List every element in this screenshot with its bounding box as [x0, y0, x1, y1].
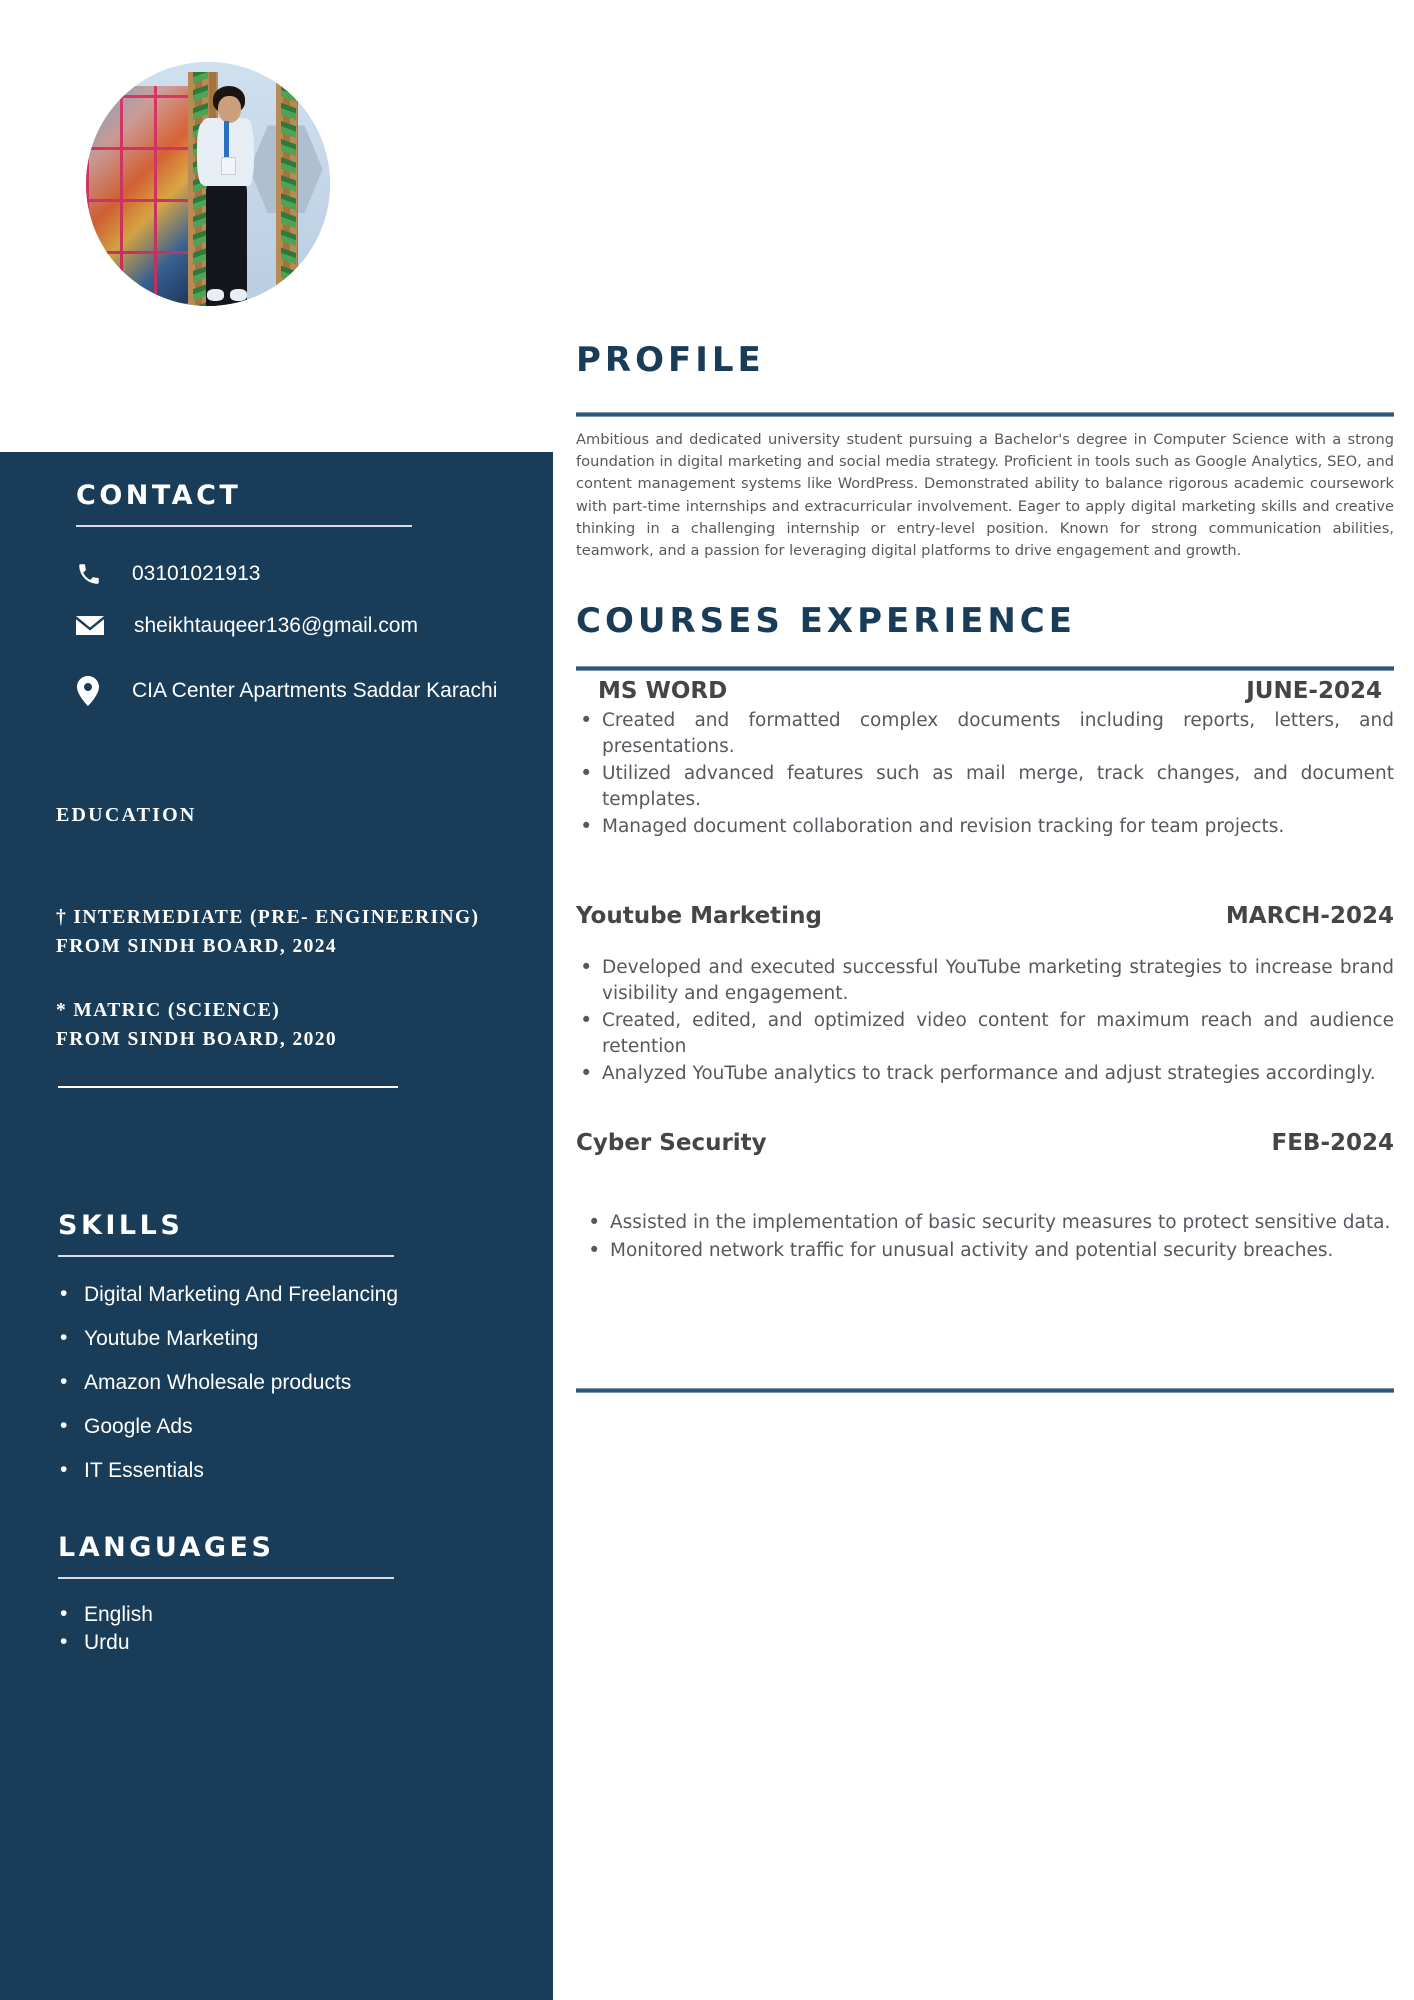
address: CIA Center Apartments Saddar Karachi [116, 679, 497, 703]
list-item: Developed and executed successful YouTub… [576, 955, 1394, 1006]
course-bullets: Created and formatted complex documents … [576, 708, 1394, 840]
skills-divider [58, 1255, 394, 1257]
list-item: Google Ads [58, 1415, 498, 1439]
course-title: Cyber Security [576, 1130, 767, 1156]
course-bullets: Developed and executed successful YouTub… [576, 955, 1394, 1087]
skills-list: Digital Marketing And Freelancing Youtub… [58, 1283, 498, 1483]
contact-divider [76, 525, 412, 527]
languages-section: LANGUAGES English Urdu [58, 1532, 498, 1655]
list-item: Digital Marketing And Freelancing [58, 1283, 498, 1307]
sidebar-divider [58, 1086, 398, 1088]
education-heading: EDUCATION [56, 804, 526, 827]
list-item: Youtube Marketing [58, 1327, 498, 1351]
course-date: MARCH-2024 [1226, 903, 1394, 929]
education-entry-degree: * MATRIC (SCIENCE) [56, 996, 526, 1025]
course-date: FEB-2024 [1271, 1130, 1394, 1156]
skills-section: SKILLS Digital Marketing And Freelancing… [58, 1210, 498, 1483]
course-entry: MS WORD JUNE-2024 Created and formatted … [576, 678, 1394, 840]
course-title: Youtube Marketing [576, 903, 822, 929]
main-content: PROFILE Ambitious and dedicated universi… [553, 0, 1414, 2000]
skills-heading: SKILLS [58, 1210, 498, 1241]
course-header: MS WORD JUNE-2024 [576, 678, 1394, 704]
list-item: IT Essentials [58, 1459, 498, 1483]
contact-row-email[interactable]: sheikhtauqeer136@gmail.com [76, 614, 496, 638]
sidebar: CONTACT 03101021913 sheikhtauqeer136@gma… [0, 452, 553, 2000]
contact-section: CONTACT 03101021913 sheikhtauqeer136@gma… [76, 480, 496, 706]
course-header: Cyber Security FEB-2024 [576, 1130, 1394, 1156]
education-entry-institution: FROM SINDH BOARD, 2020 [56, 1025, 526, 1054]
profile-heading: PROFILE [576, 340, 765, 380]
languages-divider [58, 1577, 394, 1579]
education-entry-institution: FROM SINDH BOARD, 2024 [56, 932, 526, 961]
courses-heading: COURSES EXPERIENCE [576, 601, 1076, 641]
course-date: JUNE-2024 [1246, 678, 1382, 704]
footer-divider [576, 1388, 1394, 1393]
list-item: Analyzed YouTube analytics to track perf… [576, 1061, 1394, 1087]
list-item: Amazon Wholesale products [58, 1371, 498, 1395]
course-header: Youtube Marketing MARCH-2024 [576, 903, 1394, 929]
list-item: Utilized advanced features such as mail … [576, 761, 1394, 812]
education-entry: * MATRIC (SCIENCE) FROM SINDH BOARD, 202… [56, 996, 526, 1055]
email-address: sheikhtauqeer136@gmail.com [116, 614, 418, 638]
courses-divider [576, 666, 1394, 671]
profile-divider [576, 412, 1394, 417]
contact-row-phone[interactable]: 03101021913 [76, 561, 496, 587]
profile-photo-illustration [86, 62, 330, 306]
course-bullets: Assisted in the implementation of basic … [576, 1210, 1394, 1263]
list-item: Monitored network traffic for unusual ac… [584, 1238, 1394, 1264]
email-icon [76, 615, 116, 637]
languages-list: English Urdu [58, 1603, 498, 1655]
list-item: Managed document collaboration and revis… [576, 814, 1394, 840]
location-pin-icon [76, 676, 116, 706]
list-item: Created, edited, and optimized video con… [576, 1008, 1394, 1059]
list-item: Created and formatted complex documents … [576, 708, 1394, 759]
phone-icon [76, 561, 116, 587]
course-entry: Cyber Security FEB-2024 Assisted in the … [576, 1130, 1394, 1263]
languages-heading: LANGUAGES [58, 1532, 498, 1563]
education-entry-degree: † INTERMEDIATE (PRE- ENGINEERING) [56, 903, 526, 932]
list-item: English [58, 1603, 498, 1627]
phone-number: 03101021913 [116, 562, 260, 586]
profile-body: Ambitious and dedicated university stude… [576, 429, 1394, 562]
course-title: MS WORD [598, 678, 727, 704]
contact-heading: CONTACT [76, 480, 496, 511]
list-item: Urdu [58, 1631, 498, 1655]
education-section: EDUCATION † INTERMEDIATE (PRE- ENGINEERI… [56, 804, 526, 1054]
avatar [86, 62, 330, 306]
education-entry: † INTERMEDIATE (PRE- ENGINEERING) FROM S… [56, 903, 526, 962]
contact-row-address[interactable]: CIA Center Apartments Saddar Karachi [76, 676, 496, 706]
list-item: Assisted in the implementation of basic … [584, 1210, 1394, 1236]
course-entry: Youtube Marketing MARCH-2024 Developed a… [576, 903, 1394, 1087]
